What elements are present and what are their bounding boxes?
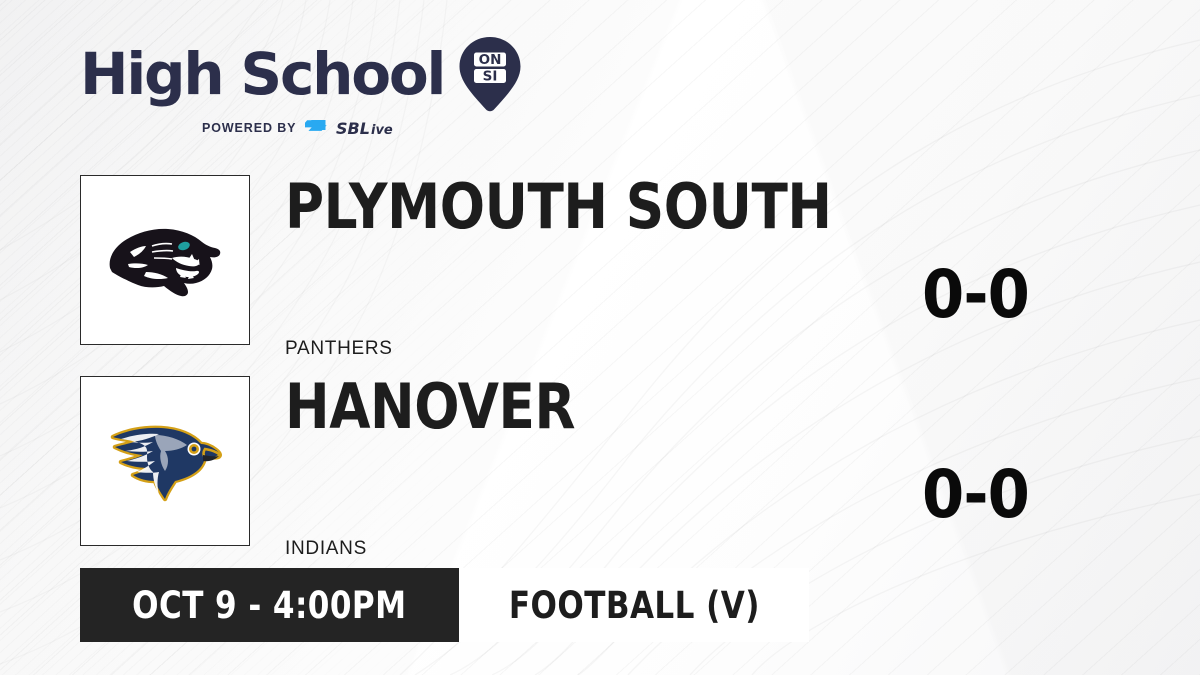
brand-header: High School ON SI POWERED BY bbox=[80, 36, 540, 138]
svg-text:ON: ON bbox=[479, 52, 502, 68]
sblive-text-part1: SBL bbox=[336, 119, 370, 138]
team-2-logo-box bbox=[80, 376, 250, 546]
hawk-head-logo bbox=[99, 411, 231, 511]
powered-by-row: POWERED BY SBL ive bbox=[80, 118, 540, 138]
game-datetime-panel: OCT 9 - 4:00PM bbox=[80, 568, 459, 642]
game-sport: FOOTBALL (V) bbox=[508, 584, 759, 627]
brand-row: High School ON SI bbox=[80, 36, 540, 114]
game-datetime: OCT 9 - 4:00PM bbox=[132, 584, 406, 627]
team-2-mascot: INDIANS bbox=[285, 538, 367, 560]
brand-wordmark: High School bbox=[80, 48, 444, 101]
team-2-record: 0-0 bbox=[922, 462, 1029, 528]
sblive-text-part2: ive bbox=[371, 123, 393, 138]
team-1-record: 0-0 bbox=[922, 262, 1029, 328]
powered-by-label: POWERED BY bbox=[202, 121, 296, 135]
sblive-logo: SBL ive bbox=[305, 118, 401, 138]
team-1-mascot: PANTHERS bbox=[285, 338, 393, 360]
panther-head-logo bbox=[100, 210, 230, 310]
onsi-pin-icon: ON SI bbox=[458, 36, 522, 114]
matchup-graphic: High School ON SI POWERED BY bbox=[0, 0, 1200, 675]
team-1-logo-box bbox=[80, 175, 250, 345]
team-2-name: HANOVER bbox=[285, 376, 575, 438]
team-1-name: PLYMOUTH SOUTH bbox=[285, 176, 832, 238]
svg-text:SI: SI bbox=[483, 69, 498, 85]
game-sport-panel: FOOTBALL (V) bbox=[459, 568, 810, 642]
info-bar: OCT 9 - 4:00PM FOOTBALL (V) bbox=[80, 568, 809, 642]
